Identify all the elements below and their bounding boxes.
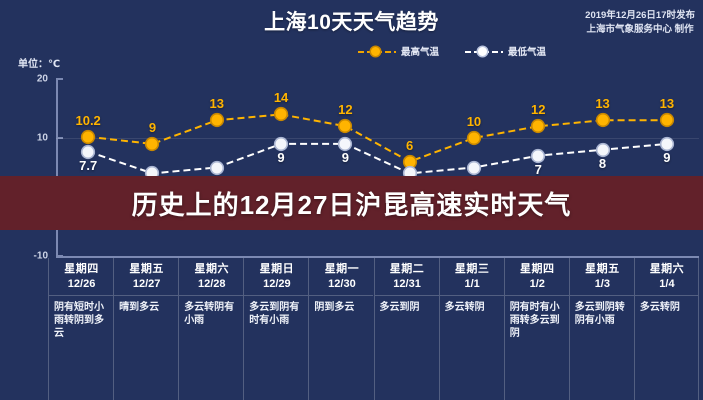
data-label-low: 9 xyxy=(663,150,670,165)
forecast-column[interactable]: 星期六1/4多云转阴 xyxy=(634,258,699,400)
data-label-low: 9 xyxy=(342,150,349,165)
data-point-high xyxy=(83,131,94,142)
forecast-column[interactable]: 星期四12/26阴有短时小雨转阴到多云 xyxy=(48,258,113,400)
forecast-weekday: 星期五 xyxy=(119,262,174,276)
data-label-high: 12 xyxy=(531,102,545,117)
publish-info: 2019年12月26日17时发布 上海市气象服务中心 制作 xyxy=(585,9,695,37)
forecast-column-divider xyxy=(309,295,373,296)
forecast-weekday: 星期六 xyxy=(184,262,239,276)
data-point-low xyxy=(211,162,222,173)
y-axis-tick-mark xyxy=(56,78,63,80)
data-point-high xyxy=(147,138,158,149)
data-point-high xyxy=(404,156,415,167)
forecast-description: 多云转阴 xyxy=(640,301,694,314)
forecast-date: 12/29 xyxy=(249,277,304,291)
forecast-weekday: 星期日 xyxy=(249,262,304,276)
forecast-date: 1/4 xyxy=(640,277,694,291)
legend-dot-high-icon xyxy=(371,47,380,56)
data-label-high: 10.2 xyxy=(75,113,100,128)
data-point-high xyxy=(340,121,351,132)
chart-legend: 最高气温 最低气温 xyxy=(358,44,546,58)
forecast-weekday: 星期六 xyxy=(640,262,694,276)
legend-label-low: 最低气温 xyxy=(508,44,546,58)
data-label-low: 7 xyxy=(535,162,542,177)
forecast-column-divider xyxy=(375,295,439,296)
forecast-date: 12/26 xyxy=(54,277,109,291)
data-point-low xyxy=(597,144,608,155)
forecast-column-divider xyxy=(505,295,569,296)
forecast-description: 多云到阴有时有小雨 xyxy=(249,301,304,327)
forecast-date: 12/27 xyxy=(119,277,174,291)
data-label-high: 6 xyxy=(406,138,413,153)
forecast-weekday: 星期五 xyxy=(575,262,630,276)
forecast-weekday: 星期三 xyxy=(445,262,500,276)
forecast-column-divider xyxy=(244,295,308,296)
forecast-column-divider xyxy=(570,295,634,296)
y-axis-tick-label: 20 xyxy=(8,74,48,85)
data-label-high: 12 xyxy=(338,102,352,117)
data-point-high xyxy=(597,115,608,126)
forecast-description: 阴到多云 xyxy=(314,301,369,314)
data-label-high: 13 xyxy=(595,96,609,111)
data-label-high: 13 xyxy=(660,96,674,111)
forecast-column[interactable]: 星期三1/1多云转阴 xyxy=(439,258,504,400)
forecast-column[interactable]: 星期五1/3多云到阴转阴有小雨 xyxy=(569,258,634,400)
forecast-weekday: 星期一 xyxy=(314,262,369,276)
data-point-high xyxy=(468,133,479,144)
forecast-column-divider xyxy=(635,295,698,296)
data-label-high: 13 xyxy=(210,96,224,111)
data-point-low xyxy=(340,138,351,149)
data-label-high: 14 xyxy=(274,90,288,105)
forecast-weekday: 星期二 xyxy=(380,262,435,276)
forecast-description: 多云到阴 xyxy=(380,301,435,314)
forecast-weekday: 星期四 xyxy=(510,262,565,276)
weather-chart-infographic: 上海10天天气趋势 2019年12月26日17时发布 上海市气象服务中心 制作 … xyxy=(0,0,703,400)
data-point-high xyxy=(276,109,287,120)
forecast-date: 12/31 xyxy=(380,277,435,291)
data-label-low: 7.7 xyxy=(79,158,97,173)
legend-item-low-temp: 最低气温 xyxy=(465,44,546,58)
forecast-column-divider xyxy=(440,295,504,296)
series-line-low xyxy=(88,144,667,174)
data-label-low: 9 xyxy=(277,150,284,165)
forecast-table: 星期四12/26阴有短时小雨转阴到多云星期五12/27晴到多云星期六12/28多… xyxy=(48,258,699,400)
legend-item-high-temp: 最高气温 xyxy=(358,44,439,58)
publisher-name: 上海市气象服务中心 制作 xyxy=(585,23,695,37)
forecast-column-divider xyxy=(114,295,178,296)
forecast-description: 阴有时有小雨转多云到阴 xyxy=(510,301,565,340)
data-label-high: 10 xyxy=(467,114,481,129)
forecast-date: 1/3 xyxy=(575,277,630,291)
legend-line-low-icon xyxy=(465,46,503,57)
forecast-description: 多云转阴有小雨 xyxy=(184,301,239,327)
data-point-low xyxy=(468,162,479,173)
data-point-high xyxy=(211,115,222,126)
forecast-description: 多云转阴 xyxy=(445,301,500,314)
data-point-high xyxy=(661,115,672,126)
forecast-column[interactable]: 星期四1/2阴有时有小雨转多云到阴 xyxy=(504,258,569,400)
forecast-column-divider xyxy=(179,295,243,296)
legend-dot-low-icon xyxy=(478,47,487,56)
forecast-column[interactable]: 星期五12/27晴到多云 xyxy=(113,258,178,400)
legend-label-high: 最高气温 xyxy=(401,44,439,58)
y-axis-unit-label: 单位：℃ xyxy=(18,55,60,70)
data-point-low xyxy=(533,150,544,161)
forecast-column[interactable]: 星期日12/29多云到阴有时有小雨 xyxy=(243,258,308,400)
forecast-weekday: 星期四 xyxy=(54,262,109,276)
overlay-banner: 历史上的12月27日沪昆高速实时天气 xyxy=(0,176,703,230)
y-axis-tick-label: 10 xyxy=(8,133,48,144)
forecast-description: 晴到多云 xyxy=(119,301,174,314)
forecast-description: 多云到阴转阴有小雨 xyxy=(575,301,630,327)
data-point-low xyxy=(661,138,672,149)
legend-line-high-icon xyxy=(358,46,396,57)
data-point-high xyxy=(533,121,544,132)
forecast-column[interactable]: 星期一12/30阴到多云 xyxy=(308,258,373,400)
overlay-banner-text: 历史上的12月27日沪昆高速实时天气 xyxy=(132,185,572,222)
data-point-low xyxy=(276,138,287,149)
forecast-description: 阴有短时小雨转阴到多云 xyxy=(54,301,109,340)
y-axis-tick-mark xyxy=(56,255,63,257)
y-axis-tick-label: -10 xyxy=(8,251,48,262)
data-point-low xyxy=(83,146,94,157)
forecast-date: 1/2 xyxy=(510,277,565,291)
forecast-column[interactable]: 星期二12/31多云到阴 xyxy=(374,258,439,400)
data-label-high: 9 xyxy=(149,120,156,135)
data-label-low: 8 xyxy=(599,156,606,171)
publish-time: 2019年12月26日17时发布 xyxy=(585,9,695,23)
forecast-column-divider xyxy=(49,295,113,296)
forecast-column[interactable]: 星期六12/28多云转阴有小雨 xyxy=(178,258,243,400)
forecast-date: 12/28 xyxy=(184,277,239,291)
forecast-date: 12/30 xyxy=(314,277,369,291)
forecast-date: 1/1 xyxy=(445,277,500,291)
